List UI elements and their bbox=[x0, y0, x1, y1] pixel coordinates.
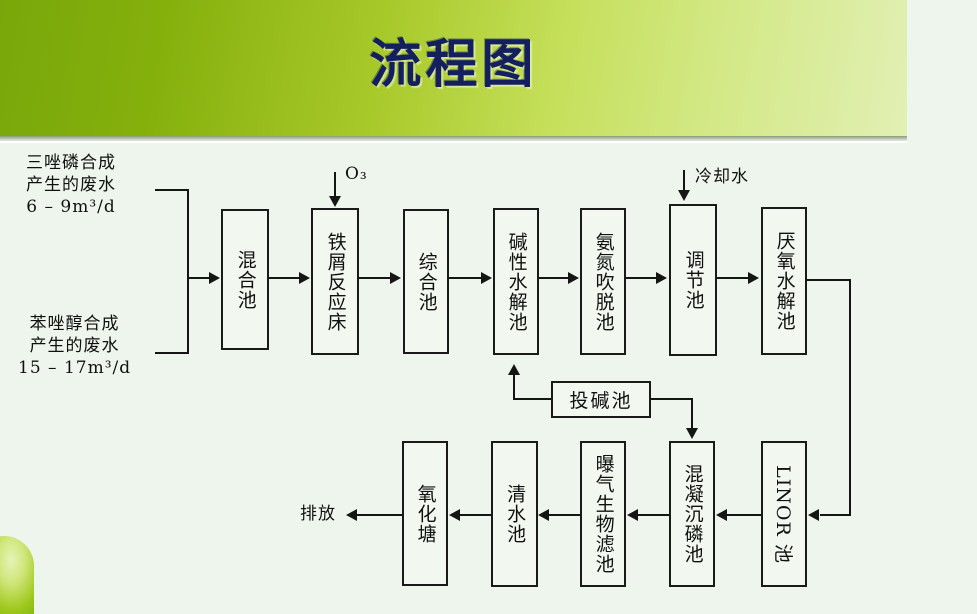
node-clear-water-tank[interactable]: 清水池 bbox=[491, 441, 538, 587]
node-oxidation-pond[interactable]: 氧化塘 bbox=[402, 441, 448, 586]
arrow-cooling-water-into-regulating bbox=[678, 190, 690, 201]
connector-alkali-downcomer bbox=[691, 398, 693, 429]
connector-triazophos-stub bbox=[155, 189, 189, 191]
connector-ozone-inlet bbox=[334, 172, 336, 198]
input-label-benzazole: 苯唑醇合成 产生的废水 15 – 17m³/d bbox=[18, 313, 131, 379]
connector-integrated-to-alkaline bbox=[449, 277, 481, 279]
input-label-triazophos: 三唑磷合成 产生的废水 6 – 9m³/d bbox=[26, 152, 116, 218]
arrow-alkali-into-alkaline-hydrolysis bbox=[508, 364, 520, 375]
arrow-into-integrated-tank bbox=[390, 272, 401, 284]
connector-anaerobic-out bbox=[807, 279, 851, 281]
connector-iron-to-integrated bbox=[359, 277, 391, 279]
connector-ammonia-to-regulating bbox=[626, 277, 657, 279]
connector-input-riser bbox=[187, 189, 189, 354]
connector-alkali-to-left bbox=[513, 398, 551, 400]
arrow-ozone-into-iron-bed bbox=[329, 196, 341, 207]
label-cooling-water: 冷却水 bbox=[695, 166, 749, 188]
banner-underline bbox=[0, 141, 907, 143]
connector-linor-to-coagulation bbox=[727, 514, 761, 516]
connector-right-riser bbox=[849, 279, 851, 516]
arrow-into-ammonia-stripping bbox=[568, 272, 579, 284]
connector-alkali-to-right bbox=[651, 398, 693, 400]
connector-coagulation-to-biofilter bbox=[638, 514, 669, 516]
node-regulating-tank[interactable]: 调节池 bbox=[669, 204, 717, 356]
node-iron-filings-reaction-bed[interactable]: 铁屑反应床 bbox=[311, 208, 359, 355]
node-integrated-tank[interactable]: 综合池 bbox=[403, 209, 449, 354]
arrow-into-anaerobic-hydrolysis bbox=[748, 272, 759, 284]
arrow-into-oxidation-pond bbox=[449, 509, 460, 521]
label-ozone: O₃ bbox=[345, 163, 368, 185]
arrow-into-alkaline-hydrolysis bbox=[481, 272, 492, 284]
connector-regulating-to-anaerobic bbox=[717, 277, 749, 279]
arrow-into-coagulation-tank bbox=[716, 509, 727, 521]
arrow-alkali-into-coagulation bbox=[686, 428, 698, 439]
page-title: 流程图 bbox=[0, 22, 907, 97]
input-rate-benzazole: 15 – 17m³/d bbox=[18, 357, 131, 379]
connector-clearwater-to-oxidation bbox=[460, 514, 491, 516]
node-mixing-tank[interactable]: 混合池 bbox=[221, 209, 269, 350]
connector-mixing-to-iron bbox=[269, 277, 300, 279]
connector-alkali-riser bbox=[513, 375, 515, 399]
node-ammonia-stripping-tank[interactable]: 氨氮吹脱池 bbox=[580, 208, 626, 355]
connector-benzazole-stub bbox=[155, 352, 189, 354]
node-aerated-biofilter[interactable]: 曝气生物滤池 bbox=[580, 441, 626, 587]
arrow-into-aerated-biofilter bbox=[627, 509, 638, 521]
connector-cooling-water-inlet bbox=[683, 170, 685, 192]
connector-biofilter-to-clearwater bbox=[549, 514, 580, 516]
connector-alkaline-to-ammonia bbox=[539, 277, 568, 279]
arrow-discharge bbox=[346, 509, 357, 521]
node-alkaline-hydrolysis-tank[interactable]: 碱性水解池 bbox=[493, 208, 539, 355]
label-discharge: 排放 bbox=[300, 503, 336, 525]
arrow-into-linor-tank bbox=[808, 509, 819, 521]
arrow-into-regulating-tank bbox=[656, 272, 667, 284]
node-linor-tank[interactable]: LINOR 池 bbox=[761, 441, 807, 587]
input-rate-triazophos: 6 – 9m³/d bbox=[26, 196, 116, 218]
arrow-into-clear-water-tank bbox=[538, 509, 549, 521]
flowchart-slide: 流程图 三唑磷合成 产生的废水 6 – 9m³/d 苯唑醇合成 产生的废水 15… bbox=[0, 0, 977, 614]
node-alkali-dosing-tank[interactable]: 投碱池 bbox=[551, 381, 651, 418]
node-coagulation-p-removal-tank[interactable]: 混凝沉磷池 bbox=[669, 441, 715, 587]
leaf-decoration-icon bbox=[0, 536, 34, 614]
connector-oxidation-to-discharge bbox=[357, 514, 402, 516]
arrow-into-mixing-tank bbox=[209, 272, 220, 284]
arrow-into-iron-bed bbox=[299, 272, 310, 284]
node-anaerobic-hydrolysis-tank[interactable]: 厌氧水解池 bbox=[761, 207, 807, 355]
connector-right-to-linor bbox=[820, 514, 851, 516]
